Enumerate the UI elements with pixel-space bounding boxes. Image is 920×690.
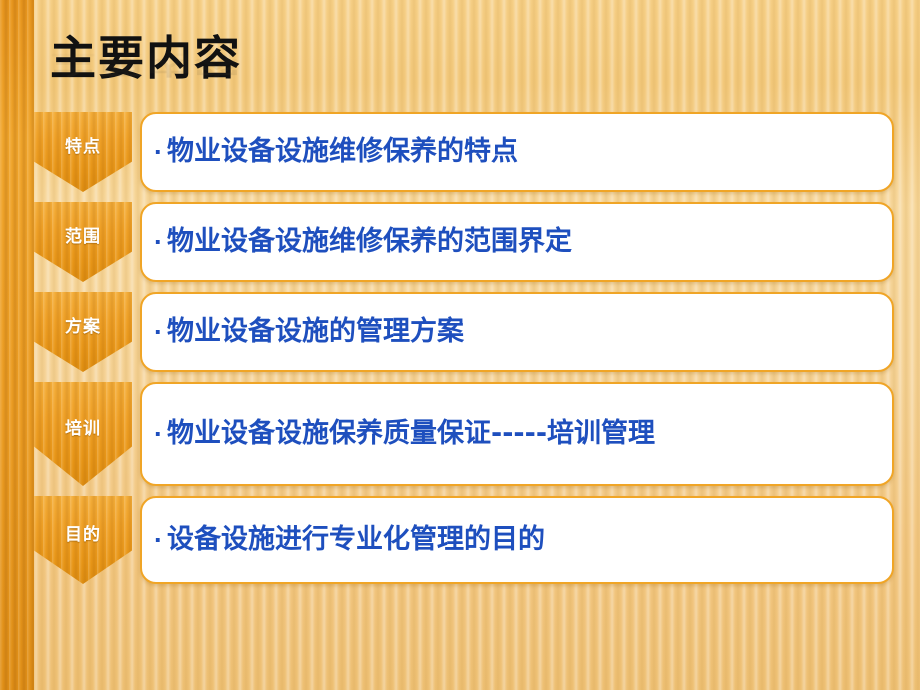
chevron-label: 目的	[65, 520, 101, 561]
content-text: 物业设备设施的管理方案	[167, 315, 464, 350]
chevron-tag-3: 培训	[34, 382, 132, 486]
left-accent-band	[0, 0, 34, 690]
bullet-icon: ·	[154, 317, 163, 348]
chevron-tag-4: 目的	[34, 496, 132, 584]
chevron-label: 培训	[65, 414, 101, 455]
chevron-tag-2: 方案	[34, 292, 132, 372]
content-card-2[interactable]: · 物业设备设施的管理方案	[140, 292, 894, 372]
chevron-label: 方案	[65, 312, 101, 353]
bullet-icon: ·	[154, 227, 163, 258]
page-title: 主要内容	[50, 22, 242, 88]
list-item[interactable]: 特点 · 物业设备设施维修保养的特点	[34, 112, 894, 192]
content-text: 设备设施进行专业化管理的目的	[167, 523, 545, 558]
content-card-0[interactable]: · 物业设备设施维修保养的特点	[140, 112, 894, 192]
content-card-4[interactable]: · 设备设施进行专业化管理的目的	[140, 496, 894, 584]
content-list: 特点 · 物业设备设施维修保养的特点 范围 · 物业设备设施维修保养的范围界定 …	[34, 112, 894, 594]
content-text: 物业设备设施保养质量保证-----培训管理	[167, 417, 655, 452]
chevron-tag-1: 范围	[34, 202, 132, 282]
content-card-1[interactable]: · 物业设备设施维修保养的范围界定	[140, 202, 894, 282]
content-text: 物业设备设施维修保养的特点	[167, 135, 518, 170]
chevron-label: 特点	[65, 132, 101, 173]
bullet-icon: ·	[154, 525, 163, 556]
content-text: 物业设备设施维修保养的范围界定	[167, 225, 572, 260]
slide: 主要内容 主要内容 特点 · 物业设备设施维修保养的特点 范围 · 物业设备设施…	[0, 0, 920, 690]
chevron-label: 范围	[65, 222, 101, 263]
bullet-icon: ·	[154, 137, 163, 168]
list-item[interactable]: 培训 · 物业设备设施保养质量保证-----培训管理	[34, 382, 894, 486]
list-item[interactable]: 方案 · 物业设备设施的管理方案	[34, 292, 894, 372]
content-card-3[interactable]: · 物业设备设施保养质量保证-----培训管理	[140, 382, 894, 486]
chevron-tag-0: 特点	[34, 112, 132, 192]
list-item[interactable]: 范围 · 物业设备设施维修保养的范围界定	[34, 202, 894, 282]
list-item[interactable]: 目的 · 设备设施进行专业化管理的目的	[34, 496, 894, 584]
bullet-icon: ·	[154, 419, 163, 450]
